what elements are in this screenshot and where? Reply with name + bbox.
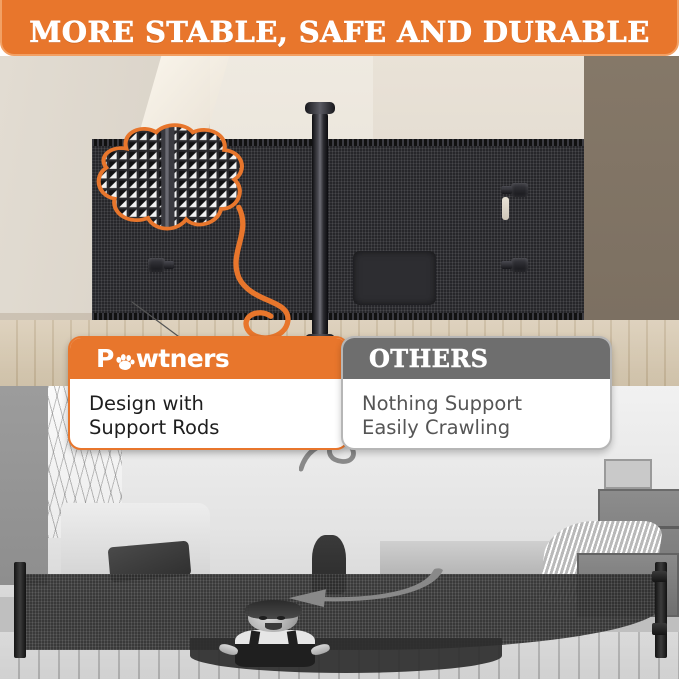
paw-icon-svg [115,352,135,372]
brand-logo-prefix: P [96,344,114,373]
gate-handle [502,197,509,221]
ours-card-header: P wtners [70,338,347,379]
ours-card-body: Design with Support Rods [70,379,347,450]
callout-connector [177,201,326,340]
others-line-1: Nothing Support [362,392,610,416]
brand-logo: P wtners [96,344,229,373]
banner-title: MORE STABLE, SAFE AND DURABLE [29,15,649,49]
others-line-2: Easily Crawling [362,416,610,440]
wall-bracket-top-right [511,183,528,197]
support-rod-cap-top [305,102,335,114]
comparison-cards: P wtners Design with Support [0,336,679,456]
baby-body [235,630,315,668]
baby-eye-left [259,616,268,619]
others-card-body: Nothing Support Easily Crawling [343,379,610,450]
brand-logo-suffix: wtners [136,344,229,373]
comparison-card-others[interactable]: OTHERS Nothing Support Easily Crawling [341,336,612,450]
others-title: OTHERS [369,344,488,373]
bottom-bracket-top [652,571,667,583]
wall-bracket-bottom-right [511,258,528,272]
paw-print-icon [115,349,135,369]
wall-bracket-bottom-left [148,258,165,272]
curved-arrow-icon [272,562,449,632]
header-banner: MORE STABLE, SAFE AND DURABLE [0,0,679,56]
ours-line-1: Design with [89,392,347,416]
others-card-header: OTHERS [343,338,610,379]
infographic-page: P wtners Design with Support [0,0,679,679]
comparison-card-ours[interactable]: P wtners Design with Support [68,336,349,450]
ours-line-2: Support Rods [89,416,347,440]
gate-patch [353,251,437,305]
picture-frame [604,459,652,488]
bottom-bracket-bottom [652,623,667,635]
gate-post-left [14,562,26,659]
